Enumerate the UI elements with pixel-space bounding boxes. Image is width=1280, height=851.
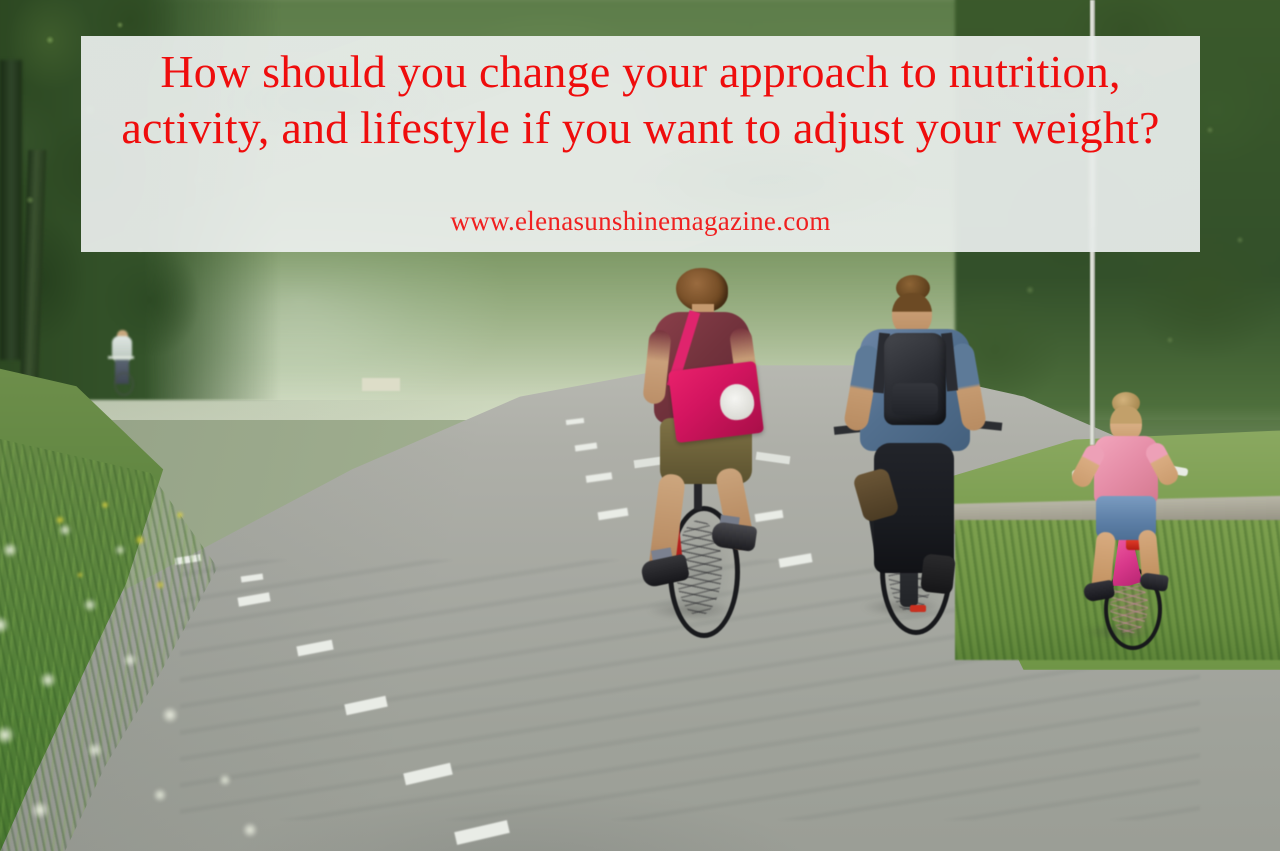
backpack-pocket	[892, 383, 938, 415]
handlebar-right	[756, 452, 791, 465]
headline-text: How should you change your approach to n…	[81, 44, 1200, 156]
bicycle-wheel	[114, 372, 134, 396]
rear-reflector	[910, 605, 926, 612]
man-on-red-bicycle	[630, 268, 800, 628]
rider-boot-right	[920, 553, 956, 594]
distant-cyclist	[104, 330, 140, 392]
girl-on-pink-bicycle	[1078, 392, 1188, 642]
woman-on-black-bicycle	[848, 275, 998, 625]
text-overlay-banner: How should you change your approach to n…	[81, 36, 1200, 252]
handlebar	[108, 356, 134, 359]
image-canvas: How should you change your approach to n…	[0, 0, 1280, 851]
distant-roadside-sign	[362, 378, 400, 391]
website-url-text: www.elenasunshinemagazine.com	[81, 206, 1200, 237]
white-cow-parsley-flowers	[0, 490, 390, 851]
